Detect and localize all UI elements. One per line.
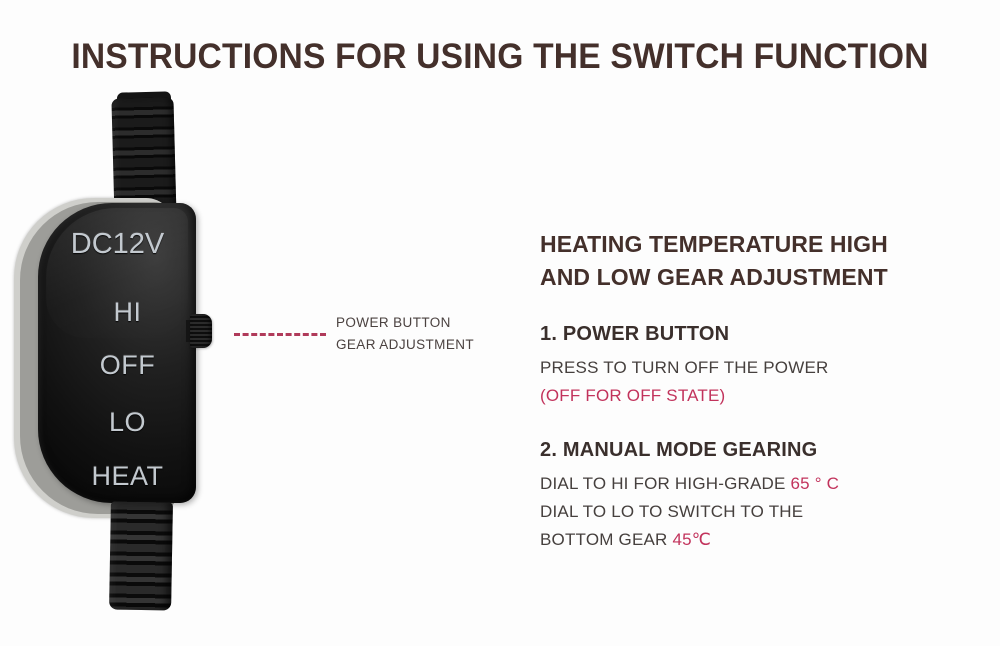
device-label-lo: LO	[55, 407, 200, 438]
page-title: INSTRUCTIONS FOR USING THE SWITCH FUNCTI…	[20, 37, 980, 77]
device-label-hi: HI	[55, 297, 200, 328]
section-2-line-3-text: BOTTOM GEAR	[540, 530, 672, 549]
instruction-panel: HEATING TEMPERATURE HIGH AND LOW GEAR AD…	[540, 228, 980, 554]
device-label-voltage: DC12V	[45, 228, 190, 261]
section-2-temp-high: 65 ° C	[790, 474, 839, 493]
section-2-temp-low: 45℃	[672, 530, 711, 549]
section-2-line-3: BOTTOM GEAR 45℃	[540, 526, 980, 554]
section-1-line-1: PRESS TO TURN OFF THE POWER	[540, 354, 980, 382]
callout-line-2: GEAR ADJUSTMENT	[336, 334, 556, 356]
section-power-button: 1. POWER BUTTON PRESS TO TURN OFF THE PO…	[540, 320, 980, 410]
section-2-line-1: DIAL TO HI FOR HIGH-GRADE 65 ° C	[540, 470, 980, 498]
section-1-line-2: (OFF FOR OFF STATE)	[540, 382, 980, 410]
panel-heading-line-2: AND LOW GEAR ADJUSTMENT	[540, 261, 980, 294]
panel-heading-line-1: HEATING TEMPERATURE HIGH	[540, 228, 980, 261]
section-2-title: 2. MANUAL MODE GEARING	[540, 436, 980, 464]
callout-line-1: POWER BUTTON	[336, 312, 556, 334]
cable-strain-relief-bottom-icon	[109, 501, 173, 610]
section-2-line-1-text: DIAL TO HI FOR HIGH-GRADE	[540, 474, 790, 493]
callout-dashed-leader-line	[234, 333, 326, 336]
callout: POWER BUTTON GEAR ADJUSTMENT	[336, 312, 556, 356]
device-label-heat: HEAT	[55, 461, 200, 492]
section-manual-mode-gearing: 2. MANUAL MODE GEARING DIAL TO HI FOR HI…	[540, 436, 980, 554]
instruction-page: INSTRUCTIONS FOR USING THE SWITCH FUNCTI…	[0, 0, 1000, 646]
switch-device-illustration: DC12V HI OFF LO HEAT	[0, 90, 260, 630]
section-1-title: 1. POWER BUTTON	[540, 320, 980, 348]
device-label-off: OFF	[55, 350, 200, 381]
section-2-line-2: DIAL TO LO TO SWITCH TO THE	[540, 498, 980, 526]
